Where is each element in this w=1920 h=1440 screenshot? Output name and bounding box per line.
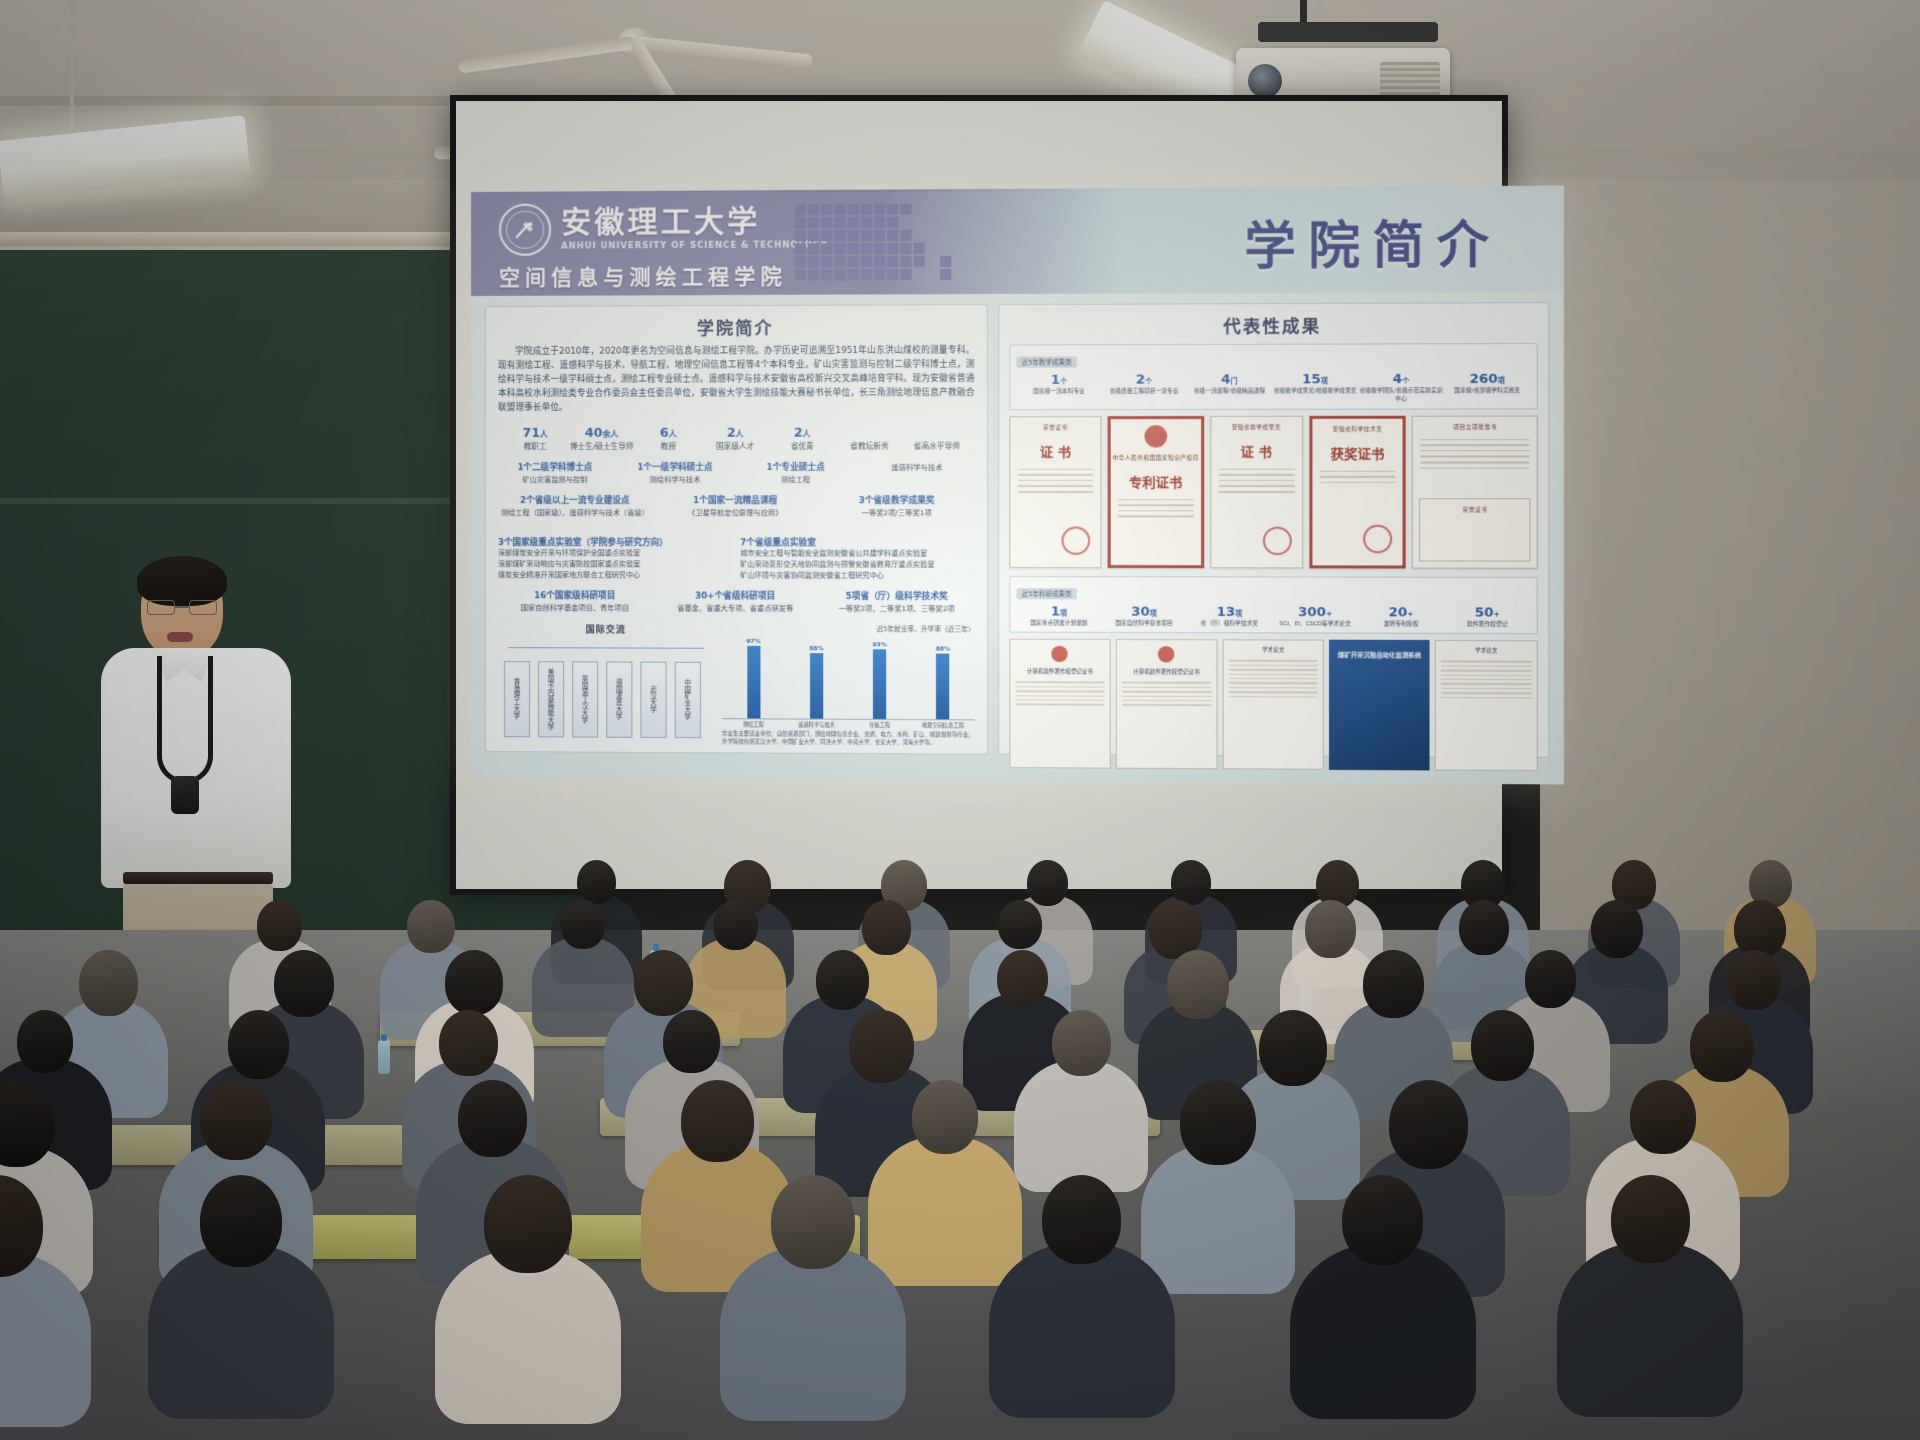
chart-bar: 88% [936,653,949,719]
checker-cell [900,256,911,267]
achievement-unit: 项 [1060,609,1067,617]
audience-member-head [274,950,334,1017]
audience-member-head [200,1080,271,1160]
audience-member-head [228,1010,290,1079]
degree-title: 1个专业硕士点 [738,460,853,472]
chart-bar-label: 88% [809,645,824,652]
doc-caption: 计算机软件著作权登记证书 [1117,668,1216,676]
stat-label: 省优青 [769,440,836,451]
achievement-unit: 个 [1060,378,1067,386]
cert-text-lines [1018,468,1094,492]
checker-cell [887,204,898,215]
chart-x-axis-labels: 测绘工程遥感科学与技术导航工程地理空间信息工程 [722,721,975,729]
org-node: 德国波恩大学 [606,661,632,737]
audience-member-head [1734,900,1786,958]
org-node: 中国矿业大学 [675,662,701,738]
slide-brand: 安徽理工大学 ANHUI UNIVERSITY OF SCIENCE & TEC… [499,202,828,256]
achievement-caption: 省级教学成果奖/校级教学成果奖 [1272,388,1358,396]
checker-cell [821,217,832,228]
light-suspension-rod [70,0,74,130]
chart-bar: 97% [747,646,760,718]
stat-label: 教职工 [502,441,568,452]
checker-cell [914,256,925,267]
chart-note: 毕业生主要就业单位：自然资源部门、测绘地理信息企业、交通、电力、水利、矿山、城建… [722,731,975,748]
doc-caption: 煤矿开采沉陷自动化监测系统 [1329,650,1429,660]
national-emblem-icon [1144,425,1167,447]
stat-label: 教授 [635,440,702,451]
org-chart-title: 国际交流 [498,622,714,636]
stat-item: 71人 教职工 [502,424,568,451]
doc-caption: 计算机软件著作权登记证书 [1010,667,1109,675]
audience-member-body [435,1249,621,1424]
cert-caption: 中华人民共和国国家知识产权局 [1111,453,1201,461]
achievement-number-item: 15项省级教学成果奖/校级教学成果奖 [1272,372,1358,404]
org-node: 英国诺丁汉大学 [572,661,598,737]
checker-cell [887,256,898,267]
achievement-unit: 项 [1321,377,1328,385]
audience-member-head [1389,1080,1468,1169]
checker-cell [900,243,911,254]
checker-cell [874,230,885,241]
audience-member-head [912,1080,978,1154]
research-numbers-row: 1项国家重点研发计划课题30项国家自然科学基金项目13项省（厅）级科学技术奖30… [1017,604,1531,630]
audience-member-body [1557,1242,1743,1417]
audience-member-head [407,900,455,953]
research-achievements-band: 近5年科研成果类 1项国家重点研发计划课题30项国家自然科学基金项目13项省（厅… [1009,576,1537,635]
national-labs-block: 3个国家级重点实验室（学院参与研究方向） 深部煤炭安全开采与环境保护全国重点实验… [498,537,730,581]
cert-text-lines [1421,439,1530,469]
teaching-achievements-band: 近5年教学成果类 1个国家级一流本科专业2个省级质量工程项目一流专业4门省级一流… [1009,343,1537,410]
checker-cell [887,243,898,254]
audience-member-head [862,900,911,955]
checker-cell [887,230,898,241]
audience-member-head [1171,860,1211,905]
checker-cell [940,269,951,280]
checker-cell [900,230,911,241]
stat-item: 2人 省优青 [769,424,836,451]
chart-bar: 88% [810,653,823,719]
audience-member-head [17,1010,74,1073]
right-panel-achievements: 代表性成果 近5年教学成果类 1个国家级一流本科专业2个省级质量工程项目一流专业… [998,302,1549,758]
achievement-unit: 项 [1235,610,1242,618]
certificate-science-award: 安徽省科学技术奖 获奖证书 [1309,415,1406,568]
item-title: 30+个省级科研项目 [658,590,813,602]
audience-member-head [681,1080,754,1162]
doc-paper-2: 学术论文 [1435,640,1538,771]
achievement-value: 15项 [1272,372,1358,387]
achievement-caption: 省级一流课程/省级精品课程 [1187,388,1273,396]
checker-cell [874,269,885,280]
checker-cell [861,256,872,267]
checker-cell [834,256,845,267]
checker-cell [940,256,951,267]
achievement-number-item: 1个国家级一流本科专业 [1017,373,1102,405]
university-crest-icon [499,204,551,256]
chart-x-label: 地理空间信息工程 [911,722,974,729]
degree-programs-row: 1个二级学科博士点 矿山灾害监测与控制 1个一级学科硕士点 测绘科学与技术 1个… [498,460,975,485]
projected-slide: 安徽理工大学 ANHUI UNIVERSITY OF SCIENCE & TEC… [471,186,1564,785]
achievement-unit: 个 [1402,377,1409,385]
slide-body: 学院简介 学院成立于2010年，2020年更名为空间信息与测绘工程学院。办学历史… [471,292,1564,785]
doc-text-lines [1441,661,1531,699]
checker-cell [821,256,832,267]
audience-member-head [1363,950,1423,1018]
checker-cell [861,243,872,254]
slide-header: 安徽理工大学 ANHUI UNIVERSITY OF SCIENCE & TEC… [471,186,1564,296]
audience-member-body [1290,1244,1476,1419]
presenter-belt [123,872,273,884]
achievement-value: 300+ [1272,605,1358,620]
doc-caption: 学术论文 [1223,646,1323,654]
provincial-labs-title: 7个省级重点实验室 [740,537,974,549]
audience-member-head [663,1010,719,1073]
stat-value: 2人 [702,424,769,439]
band-caption: 近5年教学成果类 [1017,356,1077,367]
audience-member-head [561,900,605,949]
checker-cell [808,269,819,280]
audience-member-body [989,1243,1175,1418]
item-sub: 一等奖2项、二等奖1项、三等奖2项 [819,604,975,615]
left-panel-heading: 学院简介 [498,313,975,340]
presenter-eyeglasses-icon [147,600,217,616]
audience-member-head [1259,1010,1327,1086]
audience-member-body [720,1246,906,1421]
certificate-stack: 项目立项批准书 荣誉证书 [1412,415,1537,568]
cert-caption: 荣誉证书 [1010,423,1100,431]
international-exchange-chart: 国际交流 香港理工大学 美国卡内基梅隆大学 英国诺丁汉大学 德国波恩大学 武汉大… [498,622,714,747]
provincial-labs-block: 7个省级重点实验室 城市安全工程与智能安全监测安徽省公共建学科重点实验室 矿山采… [740,537,974,582]
degree-program-item: 1个一级学科硕士点 测绘科学与技术 [618,460,732,485]
cert-caption: 项目立项批准书 [1413,422,1536,430]
right-panel-heading: 代表性成果 [1009,311,1537,338]
ceiling-fan [455,0,815,60]
org-node: 武汉大学 [640,661,666,737]
degree-program-item: 1个专业硕士点 测绘工程 [738,460,853,485]
checker-cell [834,217,845,228]
teaching-award-item: 3个省级教学成果奖 一等奖2项/三等奖1项 [819,494,975,519]
audience-member-head [816,950,869,1010]
presenter-mouth [167,632,193,642]
org-node: 美国卡内基梅隆大学 [538,661,564,737]
stat-value [903,424,970,439]
stat-value: 2人 [769,424,836,439]
certificate-teaching-award: 安徽省教学成果奖 证 书 [1210,416,1303,569]
stat-value: 71人 [502,424,568,439]
audience-member-head [445,950,503,1015]
achievement-number-item: 4个省级教学团队/省级示范实验实训中心 [1358,372,1444,404]
cert-seal-icon [1262,526,1291,554]
achievement-value: 50+ [1444,605,1530,621]
audience-member-head [997,950,1048,1007]
doc-text-lines [1228,660,1318,697]
faculty-stats-row: 71人 教职工 40余人 博士生/硕士生导师 6人 教授 2人 国家级人才 [498,424,975,452]
audience-member-body [1014,1060,1148,1192]
provincial-labs-list: 城市安全工程与智能安全监测安徽省公共建学科重点实验室 矿山采动变形空天地协同监测… [740,549,974,582]
achievement-unit: + [1407,610,1413,618]
checker-cell [848,217,859,228]
projector-lens-icon [1248,64,1282,98]
audience-member-head [1591,900,1643,958]
audience-member-body [1141,1144,1295,1294]
cert-text-lines [1118,499,1194,518]
checker-cell [821,269,832,280]
national-projects-item: 16个国家级科研项目 国家自然科学基金项目、青年项目 [498,589,652,614]
cert-text-lines [1319,470,1395,483]
audience-member-head [849,1010,914,1083]
achievement-number-item: 260项国家级/省部级学科竞赛奖 [1444,372,1530,404]
org-node: 香港理工大学 [504,661,530,737]
achievement-value: 1项 [1017,604,1102,619]
chart-bar: 93% [873,649,886,718]
cert-title: 证 书 [1211,441,1302,460]
stat-item: 40余人 博士生/硕士生导师 [568,424,635,451]
achievement-caption: 国家重点研发计划课题 [1017,620,1102,628]
achievement-value: 4门 [1187,372,1273,387]
projector-vent [1380,62,1440,98]
first-class-major-item: 2个省级以上一流专业建设点 测绘工程（国家级）、遥感科学与技术（省级） [498,494,652,519]
audience-member-head [1690,1010,1754,1082]
item-sub: 省基金、省重大专项、省重点研发等 [658,604,813,615]
audience-member-head [1630,1080,1697,1154]
chart-x-label: 测绘工程 [722,721,785,728]
checker-pattern-decoration [795,189,1027,295]
item-title: 2个省级以上一流专业建设点 [498,494,652,506]
achievement-caption: 省级质量工程项目一流专业 [1101,389,1186,397]
checker-cell [795,217,806,228]
doc-text-lines [1122,682,1211,706]
checker-cell [900,204,911,215]
achievement-number-item: 4门省级一流课程/省级精品课程 [1187,372,1273,404]
audience-member-head [1525,950,1577,1008]
item-title: 3个省级教学成果奖 [819,494,975,506]
stat-item: 省高水平导师 [903,424,970,451]
achievement-unit: + [1494,610,1500,618]
provincial-projects-item: 30+个省级科研项目 省基金、省重大专项、省重点研发等 [658,590,813,615]
checker-cell [848,256,859,267]
cert-caption: 安徽省科学技术奖 [1312,425,1403,433]
checker-cell [874,217,885,228]
stat-label: 省高水平导师 [903,440,970,451]
checker-cell [848,204,859,215]
degree-sub: 测绘科学与技术 [618,475,732,485]
first-class-course-item: 1个国家一流精品课程 《卫星导航定位原理与应用》 [658,494,813,519]
certificate-secondary: 荣誉证书 [1420,498,1531,561]
audience-member-head [1611,1175,1689,1263]
cert-caption: 荣誉证书 [1421,505,1530,513]
presenter-badge [171,776,199,814]
checker-cell [795,243,806,254]
certificate-patent: 中华人民共和国国家知识产权局 专利证书 [1107,416,1203,568]
audience-member-body [148,1244,334,1419]
doc-caption: 学术论文 [1436,647,1537,655]
degree-title: 1个二级学科博士点 [498,461,612,473]
achievement-unit: + [1326,610,1332,618]
audience-member-head [484,1175,572,1273]
achievement-number-item: 1项国家重点研发计划课题 [1017,604,1102,628]
achievement-value: 30项 [1101,604,1186,619]
checker-cell [848,269,859,280]
achievement-value: 20+ [1358,605,1444,620]
audience-member-head [439,1010,498,1076]
doc-software-copyright-1: 计算机软件著作权登记证书 [1009,639,1110,769]
research-projects-row: 16个国家级科研项目 国家自然科学基金项目、青年项目 30+个省级科研项目 省基… [498,589,975,615]
national-labs-list: 深部煤炭安全开采与环境保护全国重点实验室 深部煤矿采动响应与灾害防控国家重点实验… [498,549,730,581]
audience-member-head [1180,1080,1256,1165]
checker-cell [808,256,819,267]
achievement-number-item: 300+SCI、EI、CSCD等学术论文 [1272,605,1358,629]
achievement-number-item: 20+发明专利授权 [1358,605,1444,630]
item-title: 1个国家一流精品课程 [658,494,813,506]
achievement-caption: 发明专利授权 [1358,621,1444,629]
audience-member-head [713,900,758,950]
org-chart-tree: 香港理工大学 美国卡内基梅隆大学 英国诺丁汉大学 德国波恩大学 武汉大学 中国矿… [498,641,714,738]
degree-sub: 遥感科学与技术 [859,462,974,473]
lecture-hall-photo: 安徽理工大学 ANHUI UNIVERSITY OF SCIENCE & TEC… [0,0,1920,1440]
national-emblem-icon [1052,646,1068,662]
checker-cell [861,230,872,241]
documents-row: 计算机软件著作权登记证书 计算机软件著作权登记证书 学术论文 煤矿开采沉陷自动化… [1009,639,1537,771]
item-sub: 一等奖2项/三等奖1项 [819,508,975,519]
cert-text-lines [1218,468,1294,492]
degree-program-item: 1个二级学科博士点 矿山灾害监测与控制 [498,461,612,486]
cert-title: 证 书 [1010,441,1100,460]
checker-cell [874,204,885,215]
checker-cell [900,269,911,280]
degree-title: 1个一级学科硕士点 [618,460,732,472]
checker-cell [795,204,806,215]
checker-cell [821,243,832,254]
degree-sub: 测绘工程 [738,475,853,486]
college-name-cn: 空间信息与测绘工程学院 [499,261,787,292]
stat-value: 40余人 [568,424,635,439]
achievement-number-item: 30项国家自然科学基金项目 [1101,604,1186,628]
achievement-number-item: 50+软件著作权登记 [1444,605,1530,630]
achievement-value: 260项 [1444,372,1530,387]
checker-cell [834,243,845,254]
checker-cell [795,270,806,281]
audience-member-head [998,900,1042,949]
certificates-row-1: 荣誉证书 证 书 中华人民共和国国家知识产权局 专利证书 安徽省教学成果奖 证 … [1009,415,1537,568]
water-bottle [378,1040,390,1074]
audience-member-head [1471,1010,1534,1081]
checker-cell [914,243,925,254]
checker-cell [848,230,859,241]
bottom-charts-row: 国际交流 香港理工大学 美国卡内基梅隆大学 英国诺丁汉大学 德国波恩大学 武汉大… [498,622,975,748]
audience-member-head [1342,1175,1423,1265]
degree-sub: 矿山灾害监测与控制 [498,475,612,485]
degree-program-item: 遥感科学与技术 [859,460,974,485]
college-intro-paragraph: 学院成立于2010年，2020年更名为空间信息与测绘工程学院。办学历史可追溯至1… [498,345,975,416]
chart-plot-area: 97%88%93%88% [722,637,975,721]
achievement-unit: 个 [1145,378,1152,386]
stat-item: 省教坛新秀 [836,424,903,451]
doc-text-lines [1016,682,1105,706]
cert-seal-icon [1364,524,1393,553]
checker-cell [834,204,845,215]
cert-title: 获奖证书 [1312,443,1403,462]
achievement-number-item: 2个省级质量工程项目一流专业 [1101,372,1186,404]
checker-cell [808,217,819,228]
left-panel-college-intro: 学院简介 学院成立于2010年，2020年更名为空间信息与测绘工程学院。办学历史… [485,304,988,755]
doc-software-copyright-2: 计算机软件著作权登记证书 [1116,639,1218,769]
achievement-caption: SCI、EI、CSCD等学术论文 [1272,621,1358,629]
checker-cell [874,243,885,254]
org-connector-bar [508,647,704,649]
stat-label: 省教坛新秀 [836,440,903,451]
right-wall [1540,180,1920,1010]
band-caption: 近5年科研成果类 [1017,588,1077,599]
laboratories-row: 3个国家级重点实验室（学院参与研究方向） 深部煤炭安全开采与环境保护全国重点实验… [498,528,975,582]
certificate-honor: 荣誉证书 证 书 [1009,416,1101,568]
teaching-numbers-row: 1个国家级一流本科专业2个省级质量工程项目一流专业4门省级一流课程/省级精品课程… [1017,372,1531,405]
chart-bar-label: 93% [872,641,887,648]
achievement-value: 1个 [1017,373,1102,388]
achievement-caption: 国家自然科学基金项目 [1101,620,1186,628]
item-title: 5项省（厅）级科学技术奖 [819,590,975,602]
item-sub: 《卫星导航定位原理与应用》 [658,508,813,519]
checker-cell [861,217,872,228]
checker-cell [861,204,872,215]
university-name-cn: 安徽理工大学 [561,206,828,239]
audience-member-body [868,1136,1022,1286]
audience-member-head [257,900,302,951]
achievement-caption: 国家级一流本科专业 [1017,389,1102,397]
audience-member-head [1305,900,1357,958]
audience-member-head [1027,860,1068,906]
item-title: 16个国家级科研项目 [498,589,652,601]
chart-bar-label: 88% [936,645,951,652]
chart-bar-label: 97% [746,638,761,645]
item-sub: 测绘工程（国家级）、遥感科学与技术（省级） [498,508,652,519]
stat-item: 2人 国家级人才 [702,424,769,451]
audience-member-head [1459,900,1508,955]
audience-member-head [200,1175,282,1267]
checker-cell [795,230,806,241]
checker-cell [861,269,872,280]
chart-x-label: 遥感科学与技术 [785,721,848,728]
cert-title: 专利证书 [1111,471,1201,490]
checker-cell [887,269,898,280]
checker-cell [821,230,832,241]
audience-member-head [1167,950,1228,1019]
cert-seal-icon [1061,526,1090,554]
achievement-caption: 省（厅）级科学技术奖 [1187,621,1273,629]
audience-member-head [1727,950,1781,1010]
achievement-caption: 省级教学团队/省级示范实验实训中心 [1358,388,1444,404]
cert-caption: 安徽省教学成果奖 [1211,423,1302,431]
achievement-unit: 门 [1230,377,1237,385]
slide-title: 学院简介 [1244,204,1501,279]
stat-label: 博士生/硕士生导师 [568,440,635,451]
stat-item: 6人 教授 [635,424,702,451]
item-sub: 国家自然科学基金项目、青年项目 [498,603,652,614]
stat-value [836,424,903,439]
audience-member-head [79,950,138,1016]
checker-cell [808,204,819,215]
presenter-lanyard [157,656,213,784]
checker-cell [795,256,806,267]
achievement-caption: 软件著作权登记 [1444,621,1530,629]
doc-system-screenshot: 煤矿开采沉陷自动化监测系统 [1329,640,1429,771]
checker-cell [808,243,819,254]
national-emblem-icon [1158,647,1174,663]
stat-value: 6人 [635,424,702,439]
achievement-caption: 国家级/省部级学科竞赛奖 [1444,388,1530,396]
chart-title: 近5年就业率、升学率（近三年） [722,623,975,634]
university-name-en: ANHUI UNIVERSITY OF SCIENCE & TECHNOLOGY [561,240,828,251]
audience-member-head [634,950,693,1016]
first-class-programs-row: 2个省级以上一流专业建设点 测绘工程（国家级）、遥感科学与技术（省级） 1个国家… [498,494,975,519]
